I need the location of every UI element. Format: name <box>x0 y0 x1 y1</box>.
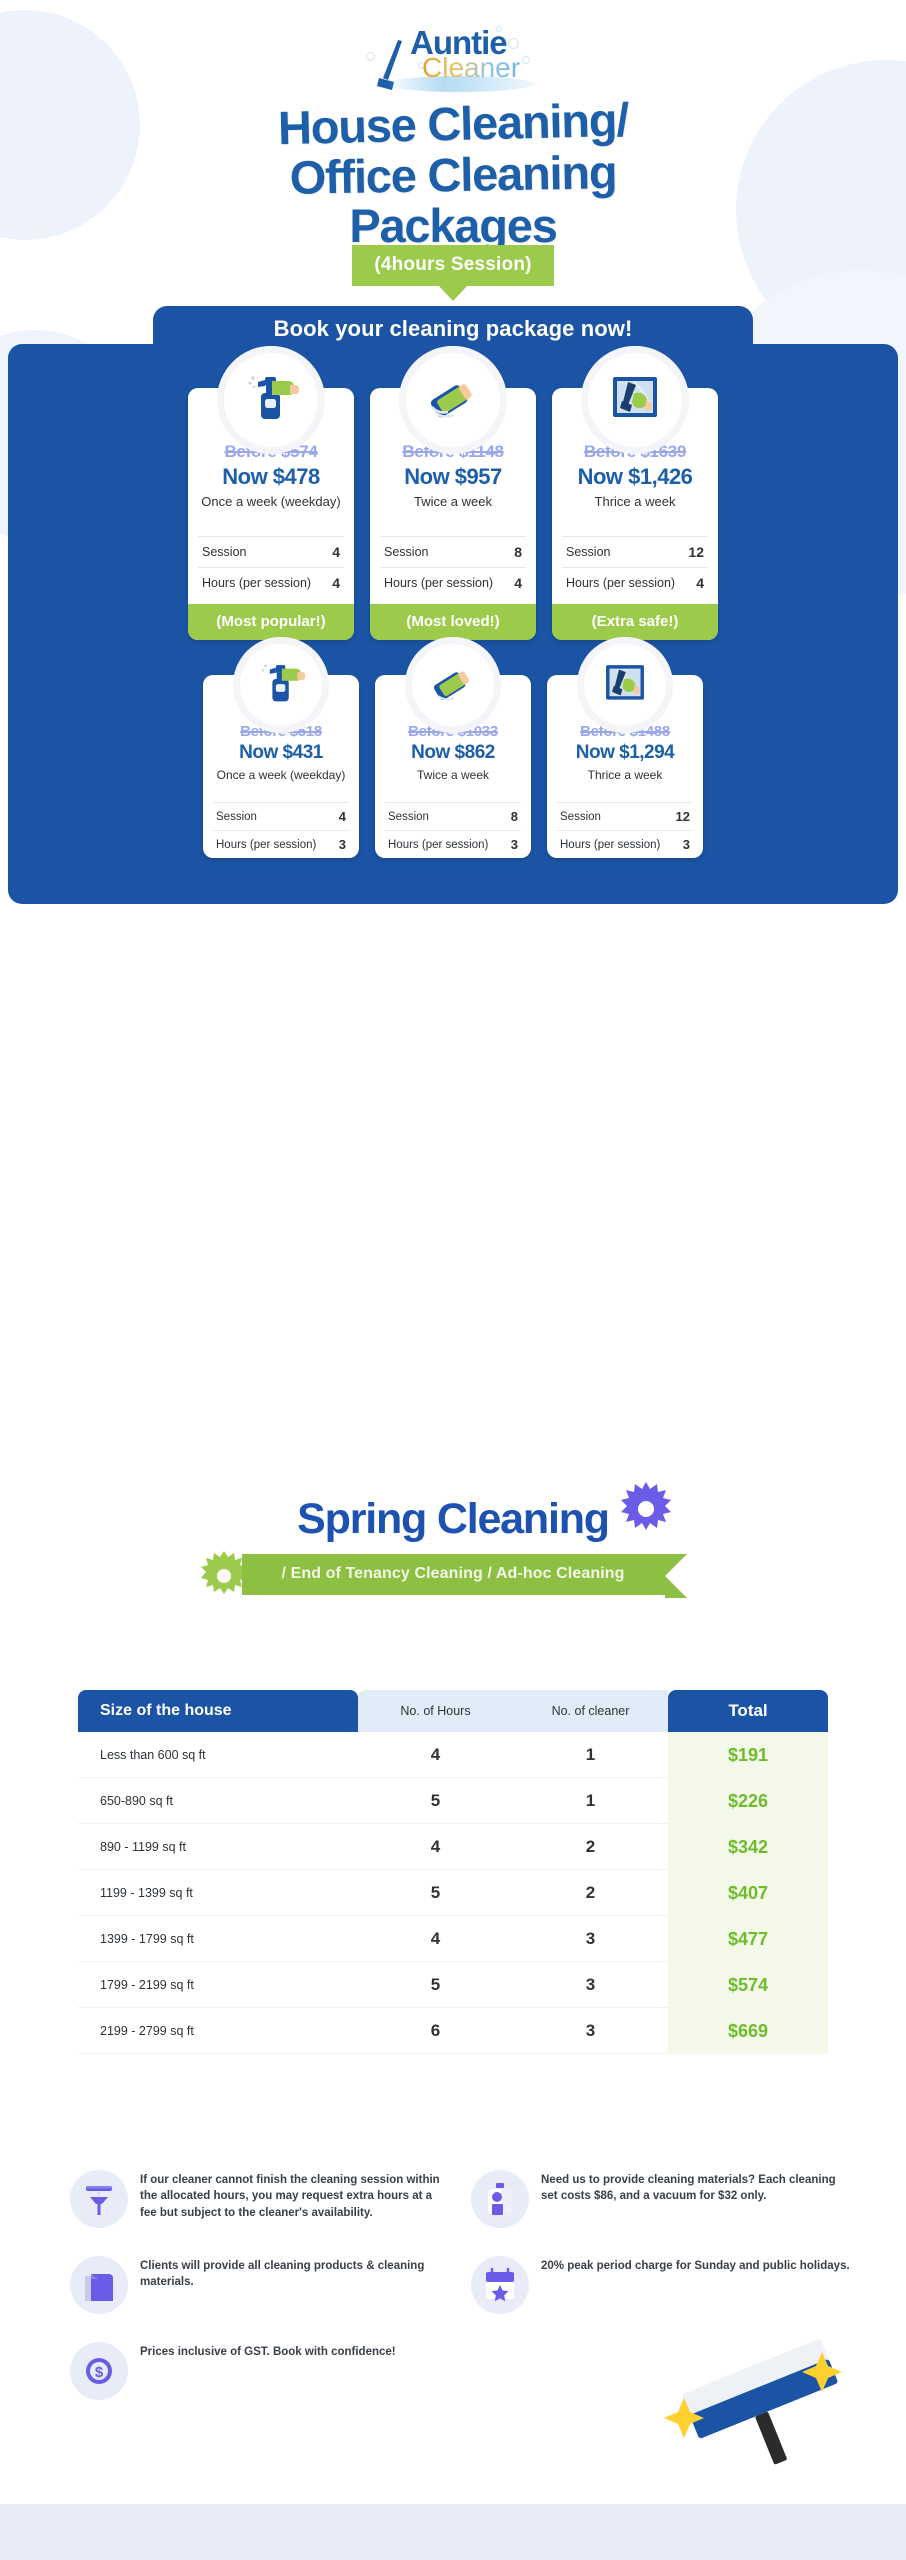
card-icon-container <box>399 346 507 454</box>
note-icon-container <box>471 2256 529 2314</box>
card-icon-container <box>233 637 329 733</box>
spec-value: 12 <box>688 544 704 560</box>
col-header-cleaner: No. of cleaner <box>513 1690 668 1732</box>
card-body: Before $574 Now $478 Once a week (weekda… <box>188 442 354 598</box>
note-item: Clients will provide all cleaning produc… <box>70 2256 449 2314</box>
cell-cleaner: 1 <box>513 1745 668 1765</box>
infographic-page: Auntie Cleaner House Cleaning/ Office Cl… <box>0 0 906 2560</box>
spec-row-hours: Hours (per session) 4 <box>562 567 708 598</box>
cell-cleaner: 2 <box>513 1837 668 1857</box>
spec-row-session: Session 8 <box>385 803 521 830</box>
cell-size: 650-890 sq ft <box>78 1794 358 1808</box>
cell-cleaner: 3 <box>513 1975 668 1995</box>
spec-row-hours: Hours (per session) 3 <box>213 830 349 858</box>
card-body: Before $1488 Now $1,294 Thrice a week Se… <box>547 723 703 858</box>
spec-row-hours: Hours (per session) 4 <box>380 567 526 598</box>
package-card[interactable]: Before $1488 Now $1,294 Thrice a week Se… <box>547 675 703 858</box>
spec-table: Session 4 Hours (per session) 4 <box>198 536 344 598</box>
spec-label: Hours (per session) <box>202 576 311 590</box>
frequency-label: Twice a week <box>385 768 521 796</box>
note-item: Need us to provide cleaning materials? E… <box>471 2170 850 2228</box>
table-row: 1399 - 1799 sq ft 4 3 $477 <box>78 1916 828 1962</box>
cell-size: 1799 - 2199 sq ft <box>78 1978 358 1992</box>
now-price: Now $478 <box>198 464 344 490</box>
spring-cleaning-section: Spring Cleaning / End of Tenancy Cleanin… <box>0 1495 906 1595</box>
cell-total: $342 <box>668 1824 828 1870</box>
spring-cleaning-title: Spring Cleaning <box>297 1495 609 1543</box>
frequency-label: Once a week (weekday) <box>213 768 349 796</box>
pricing-table-header: Size of the house No. of Hours No. of cl… <box>78 1690 828 1732</box>
spec-label: Hours (per session) <box>566 576 675 590</box>
spec-table: Session 12 Hours (per session) 3 <box>557 802 693 858</box>
burst-purple-icon <box>618 1481 674 1537</box>
card-ribbon: (Extra safe!) <box>552 604 718 640</box>
package-card[interactable]: Before $1148 Now $957 Twice a week Sessi… <box>370 388 536 640</box>
card-body: Before $518 Now $431 Once a week (weekda… <box>203 723 359 858</box>
sponge-icon <box>428 660 478 710</box>
card-body: Before $1639 Now $1,426 Thrice a week Se… <box>552 442 718 598</box>
spec-row-session: Session 8 <box>380 537 526 567</box>
spec-label: Session <box>202 545 246 559</box>
now-price: Now $1,426 <box>562 464 708 490</box>
spec-value: 8 <box>511 809 518 824</box>
table-row: 1199 - 1399 sq ft 5 2 $407 <box>78 1870 828 1916</box>
spec-row-session: Session 12 <box>562 537 708 567</box>
spec-label: Session <box>216 811 257 823</box>
card-icon-container <box>577 637 673 733</box>
spec-label: Session <box>384 545 428 559</box>
spec-value: 4 <box>332 575 340 591</box>
now-price: Now $431 <box>213 742 349 764</box>
spec-value: 4 <box>696 575 704 591</box>
cell-total: $407 <box>668 1870 828 1916</box>
note-icon-container <box>70 2256 128 2314</box>
pricing-table: Size of the house No. of Hours No. of cl… <box>78 1690 828 2054</box>
cell-total: $477 <box>668 1916 828 1962</box>
spec-label: Session <box>566 545 610 559</box>
bubble-icon <box>508 38 519 49</box>
now-price: Now $957 <box>380 464 526 490</box>
package-card[interactable]: Before $518 Now $431 Once a week (weekda… <box>203 675 359 858</box>
package-card-row-2: Before $518 Now $431 Once a week (weekda… <box>0 675 906 858</box>
frequency-label: Once a week (weekday) <box>198 494 344 526</box>
note-icon-container <box>70 2170 128 2228</box>
col-header-size: Size of the house <box>78 1690 358 1732</box>
session-badge-container: (4hours Session) <box>0 245 906 286</box>
col-header-hours: No. of Hours <box>358 1690 513 1732</box>
spray-bottle-icon <box>242 371 300 429</box>
window-squeegee-icon <box>600 660 650 710</box>
spec-table: Session 8 Hours (per session) 4 <box>380 536 526 598</box>
cell-total: $574 <box>668 1962 828 2008</box>
frequency-label: Thrice a week <box>562 494 708 526</box>
cell-hours: 5 <box>358 1791 513 1811</box>
spec-label: Session <box>560 811 601 823</box>
now-price: Now $862 <box>385 742 521 764</box>
spec-row-session: Session 4 <box>198 537 344 567</box>
note-item: $ Prices inclusive of GST. Book with con… <box>70 2342 449 2400</box>
frequency-label: Thrice a week <box>557 768 693 796</box>
sponge-icon <box>424 371 482 429</box>
spec-label: Hours (per session) <box>216 839 316 851</box>
spec-row-hours: Hours (per session) 3 <box>557 830 693 858</box>
page-title-line-3: Packages <box>0 202 906 249</box>
note-text: Clients will provide all cleaning produc… <box>140 2256 449 2291</box>
package-card-row-1: Before $574 Now $478 Once a week (weekda… <box>0 388 906 640</box>
cell-size: 2199 - 2799 sq ft <box>78 2024 358 2038</box>
spec-row-session: Session 4 <box>213 803 349 830</box>
detergent-bottle-icon <box>482 2181 518 2217</box>
cloth-icon <box>81 2267 117 2303</box>
cell-size: 1199 - 1399 sq ft <box>78 1886 358 1900</box>
svg-text:$: $ <box>95 2364 104 2381</box>
cell-total: $669 <box>668 2008 828 2054</box>
window-squeegee-icon <box>606 371 664 429</box>
page-title: House Cleaning/ Office Cleaning Packages <box>0 100 906 249</box>
cell-size: 890 - 1199 sq ft <box>78 1840 358 1854</box>
spec-value: 4 <box>332 544 340 560</box>
packages-panel-title: Book your cleaning package now! <box>8 316 898 342</box>
now-price: Now $1,294 <box>557 742 693 764</box>
note-text: If our cleaner cannot finish the cleanin… <box>140 2170 449 2221</box>
note-item: 20% peak period charge for Sunday and pu… <box>471 2256 850 2314</box>
spring-cleaning-title-row: Spring Cleaning <box>0 1495 906 1544</box>
frequency-label: Twice a week <box>380 494 526 526</box>
cell-total: $226 <box>668 1778 828 1824</box>
note-item: If our cleaner cannot finish the cleanin… <box>70 2170 449 2228</box>
cell-cleaner: 3 <box>513 2021 668 2041</box>
note-text: 20% peak period charge for Sunday and pu… <box>541 2256 850 2274</box>
spec-value: 3 <box>339 837 346 852</box>
spray-bottle-icon <box>256 660 306 710</box>
cell-hours: 4 <box>358 1837 513 1857</box>
cell-size: 1399 - 1799 sq ft <box>78 1932 358 1946</box>
note-icon-container: $ <box>70 2342 128 2400</box>
brand-logo: Auntie Cleaner <box>0 22 906 94</box>
spec-table: Session 4 Hours (per session) 3 <box>213 802 349 858</box>
spec-label: Hours (per session) <box>388 839 488 851</box>
spec-table: Session 8 Hours (per session) 3 <box>385 802 521 858</box>
bottom-band <box>0 2504 906 2560</box>
cell-hours: 6 <box>358 2021 513 2041</box>
cell-total: $191 <box>668 1732 828 1778</box>
table-row: 1799 - 2199 sq ft 5 3 $574 <box>78 1962 828 2008</box>
spring-ribbon-label: / End of Tenancy Cleaning / Ad-hoc Clean… <box>242 1554 665 1595</box>
note-icon-container <box>471 2170 529 2228</box>
cell-hours: 5 <box>358 1883 513 1903</box>
table-row: 890 - 1199 sq ft 4 2 $342 <box>78 1824 828 1870</box>
card-icon-container <box>581 346 689 454</box>
logo-text-secondary: Cleaner <box>422 52 520 84</box>
mop-bucket-icon <box>81 2181 117 2217</box>
package-card[interactable]: Before $1033 Now $862 Twice a week Sessi… <box>375 675 531 858</box>
spec-label: Hours (per session) <box>560 839 660 851</box>
card-ribbon: (Most popular!) <box>188 604 354 640</box>
cell-hours: 5 <box>358 1975 513 1995</box>
dollar-coin-icon: $ <box>81 2353 117 2389</box>
card-ribbon: (Most loved!) <box>370 604 536 640</box>
cell-cleaner: 2 <box>513 1883 668 1903</box>
bubble-icon <box>366 52 375 61</box>
col-header-total: Total <box>668 1690 828 1732</box>
spec-value: 3 <box>683 837 690 852</box>
squeegee-illustration <box>636 2334 876 2504</box>
spec-label: Hours (per session) <box>384 576 493 590</box>
spec-row-hours: Hours (per session) 3 <box>385 830 521 858</box>
spec-row-hours: Hours (per session) 4 <box>198 567 344 598</box>
cell-hours: 4 <box>358 1745 513 1765</box>
spec-table: Session 12 Hours (per session) 4 <box>562 536 708 598</box>
spec-row-session: Session 12 <box>557 803 693 830</box>
package-card[interactable]: Before $574 Now $478 Once a week (weekda… <box>188 388 354 640</box>
table-row: 650-890 sq ft 5 1 $226 <box>78 1778 828 1824</box>
card-body: Before $1148 Now $957 Twice a week Sessi… <box>370 442 536 598</box>
calendar-star-icon <box>482 2267 518 2303</box>
spec-value: 4 <box>339 809 346 824</box>
cell-cleaner: 3 <box>513 1929 668 1949</box>
spec-value: 3 <box>511 837 518 852</box>
card-icon-container <box>217 346 325 454</box>
cell-size: Less than 600 sq ft <box>78 1748 358 1762</box>
spec-value: 4 <box>514 575 522 591</box>
package-card[interactable]: Before $1639 Now $1,426 Thrice a week Se… <box>552 388 718 640</box>
table-row: Less than 600 sq ft 4 1 $191 <box>78 1732 828 1778</box>
bubble-icon <box>522 56 530 64</box>
card-body: Before $1033 Now $862 Twice a week Sessi… <box>375 723 531 858</box>
spec-value: 8 <box>514 544 522 560</box>
spring-ribbon-row: / End of Tenancy Cleaning / Ad-hoc Clean… <box>0 1554 906 1595</box>
spec-label: Session <box>388 811 429 823</box>
table-row: 2199 - 2799 sq ft 6 3 $669 <box>78 2008 828 2054</box>
note-text: Prices inclusive of GST. Book with confi… <box>140 2342 396 2360</box>
spec-value: 12 <box>676 809 690 824</box>
cell-hours: 4 <box>358 1929 513 1949</box>
card-icon-container <box>405 637 501 733</box>
session-badge: (4hours Session) <box>352 245 553 286</box>
cell-cleaner: 1 <box>513 1791 668 1811</box>
note-text: Need us to provide cleaning materials? E… <box>541 2170 850 2205</box>
